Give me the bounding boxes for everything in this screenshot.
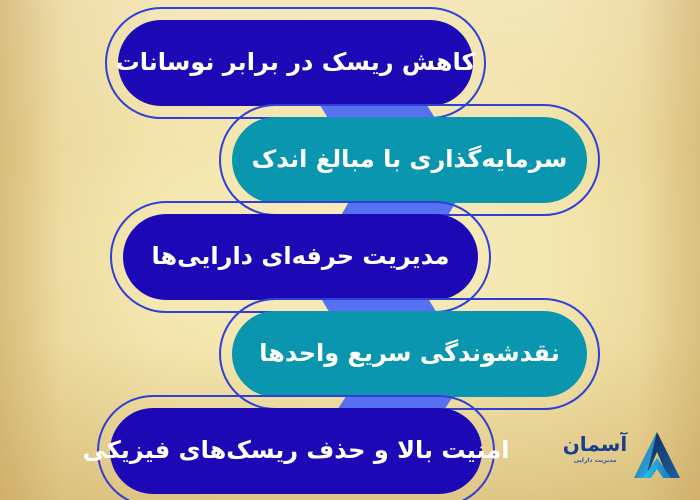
mountain-arrow-logo-icon: [630, 428, 684, 482]
list-item[interactable]: امنیت بالا و حذف ریسک‌های فیزیکی: [110, 408, 482, 494]
logo-tagline: مدیریت دارایی: [562, 458, 628, 464]
infographic-canvas: کاهش ریسک در برابر نوسانات سرمایه‌گذاری …: [0, 0, 700, 500]
list-item-label: مدیریت حرفه‌ای دارایی‌ها: [151, 243, 449, 271]
pill-body: سرمایه‌گذاری با مبالغ اندک: [232, 117, 587, 203]
pill-body: کاهش ریسک در برابر نوسانات: [118, 20, 473, 106]
list-item[interactable]: نقدشوندگی سریع واحدها: [232, 311, 587, 397]
pill-body: مدیریت حرفه‌ای دارایی‌ها: [123, 214, 478, 300]
brand-logo[interactable]: آسمان مدیریت دارایی: [560, 424, 686, 486]
logo-wordmark: آسمان مدیریت دارایی: [562, 434, 628, 464]
logo-name: آسمان: [562, 434, 628, 454]
list-item[interactable]: سرمایه‌گذاری با مبالغ اندک: [232, 117, 587, 203]
pill-body: امنیت بالا و حذف ریسک‌های فیزیکی: [110, 408, 482, 494]
list-item[interactable]: کاهش ریسک در برابر نوسانات: [118, 20, 473, 106]
list-item-label: کاهش ریسک در برابر نوسانات: [116, 49, 476, 77]
list-item-label: امنیت بالا و حذف ریسک‌های فیزیکی: [83, 437, 510, 465]
list-item-label: نقدشوندگی سریع واحدها: [259, 340, 560, 368]
pill-body: نقدشوندگی سریع واحدها: [232, 311, 587, 397]
list-item-label: سرمایه‌گذاری با مبالغ اندک: [252, 146, 568, 174]
list-item[interactable]: مدیریت حرفه‌ای دارایی‌ها: [123, 214, 478, 300]
